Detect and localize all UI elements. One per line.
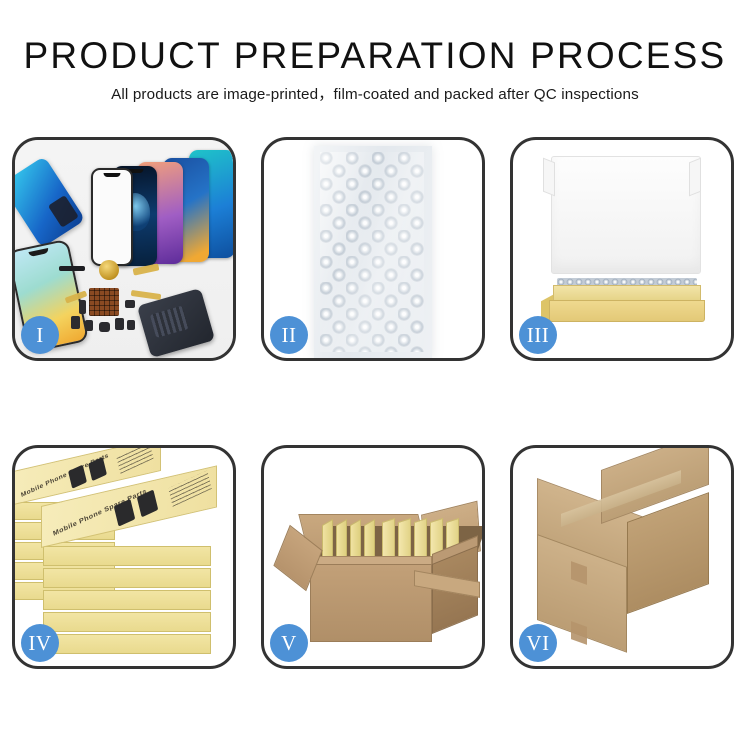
flex-cable-icon (131, 290, 162, 300)
box-spec-lines (116, 448, 153, 474)
infographic-page: PRODUCT PREPARATION PROCESS All products… (0, 0, 750, 750)
step-badge-5: V (270, 624, 308, 662)
part-bar-icon (59, 266, 85, 271)
step-badge-4: IV (21, 624, 59, 662)
step-badge-2: II (270, 316, 308, 354)
step-panel-5-carton-filling: V (261, 445, 485, 669)
step-panel-6-sealed-carton: VI (510, 445, 734, 669)
step-badge-1: I (21, 316, 59, 354)
box-spec-lines (168, 470, 211, 506)
header: PRODUCT PREPARATION PROCESS All products… (0, 34, 750, 105)
stacked-box (43, 590, 211, 610)
page-subtitle: All products are image-printed，film-coat… (0, 85, 750, 105)
phone-screen-1-icon (91, 168, 133, 266)
stacked-box (43, 546, 211, 566)
plastic-gloss-overlay (320, 152, 424, 352)
small-part-icon (99, 322, 110, 332)
chip-board-icon (89, 288, 119, 316)
step-panel-1-phone-parts: I (12, 137, 236, 361)
stacked-box (43, 634, 211, 654)
speaker-component-icon (99, 260, 119, 280)
small-part-icon (79, 300, 86, 314)
lid-flap-left (543, 158, 555, 197)
box-lid-white (551, 156, 701, 274)
lid-flap-right (689, 158, 701, 197)
small-part-icon (125, 300, 135, 308)
step-panel-3-inner-box: III (510, 137, 734, 361)
box-tray-top-edge (553, 285, 701, 301)
small-part-icon (115, 318, 124, 330)
small-part-icon (127, 320, 135, 330)
step-panel-2-bubble-wrap: II (261, 137, 485, 361)
page-title: PRODUCT PREPARATION PROCESS (0, 34, 750, 78)
carton-side-face (627, 492, 709, 614)
process-steps-grid: I II III (12, 137, 738, 669)
step-badge-3: III (519, 316, 557, 354)
step-badge-6: VI (519, 624, 557, 662)
small-part-icon (71, 316, 80, 329)
box-tray-front-kraft (549, 300, 705, 322)
stacked-box (43, 568, 211, 588)
step-panel-4-stacked-boxes: Mobile Phone Spare Parts Mobile Phone Sp… (12, 445, 236, 669)
phone-lineup (67, 148, 233, 273)
stacked-box (43, 612, 211, 632)
small-part-icon (85, 320, 93, 331)
notch-icon (104, 173, 121, 177)
